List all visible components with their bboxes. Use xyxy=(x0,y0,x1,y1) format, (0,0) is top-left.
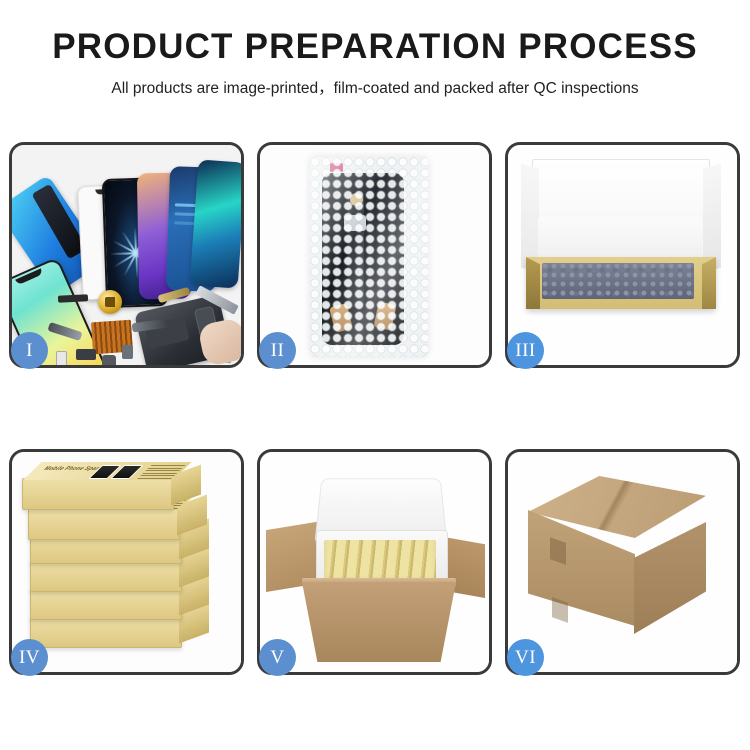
step-image-3 xyxy=(508,145,737,365)
step-badge-6: VI xyxy=(507,639,544,676)
teal-gradient-phone xyxy=(190,159,241,288)
small-part-b xyxy=(102,355,116,365)
box-label: Mobile Phone Spare Parts xyxy=(25,463,193,480)
step-panel-6[interactable]: VI xyxy=(505,449,740,675)
bubble-wrap-package xyxy=(310,157,428,357)
step-image-4: Mobile Phone Spare Parts Mobile Ph xyxy=(12,452,241,672)
page-subtitle: All products are image-printed，film-coat… xyxy=(0,76,750,98)
infographic-page: PRODUCT PREPARATION PROCESS All products… xyxy=(0,0,750,750)
step-badge-4: IV xyxy=(11,639,48,676)
small-part-c xyxy=(56,351,67,365)
header: PRODUCT PREPARATION PROCESS All products… xyxy=(0,0,750,98)
black-bar-part xyxy=(58,294,88,303)
step-badge-3: III xyxy=(507,332,544,369)
copper-coil-part xyxy=(98,290,122,314)
retail-box xyxy=(30,588,182,620)
small-part-a xyxy=(76,349,96,360)
step-badge-1: I xyxy=(11,332,48,369)
step-panel-3[interactable]: III xyxy=(505,142,740,368)
step-panel-1[interactable]: I xyxy=(9,142,244,368)
step-image-6 xyxy=(508,452,737,672)
step-badge-5: V xyxy=(259,639,296,676)
retail-box-labeled: Mobile Phone Spare Parts xyxy=(22,478,174,510)
carton-body xyxy=(302,582,456,662)
retail-box xyxy=(30,560,182,592)
step-image-5 xyxy=(260,452,489,672)
step-badge-2: II xyxy=(259,332,296,369)
page-title: PRODUCT PREPARATION PROCESS xyxy=(0,28,750,67)
steps-grid: I II xyxy=(9,142,741,675)
carton-side-face xyxy=(634,522,706,634)
step-panel-2[interactable]: II xyxy=(257,142,492,368)
granular-packing-fill xyxy=(542,263,694,299)
step-panel-4[interactable]: Mobile Phone Spare Parts Mobile Ph xyxy=(9,449,244,675)
step-panel-5[interactable]: V xyxy=(257,449,492,675)
box-stack: Mobile Phone Spare Parts Mobile Ph xyxy=(20,462,234,668)
step-image-2 xyxy=(260,145,489,365)
retail-box-labeled: Mobile Phone Spare Parts xyxy=(28,508,180,540)
retail-box xyxy=(30,616,182,648)
small-part-d xyxy=(122,345,133,359)
step-image-1 xyxy=(12,145,241,365)
plastic-sheen xyxy=(310,157,428,357)
screen-burst-graphic xyxy=(135,252,136,253)
